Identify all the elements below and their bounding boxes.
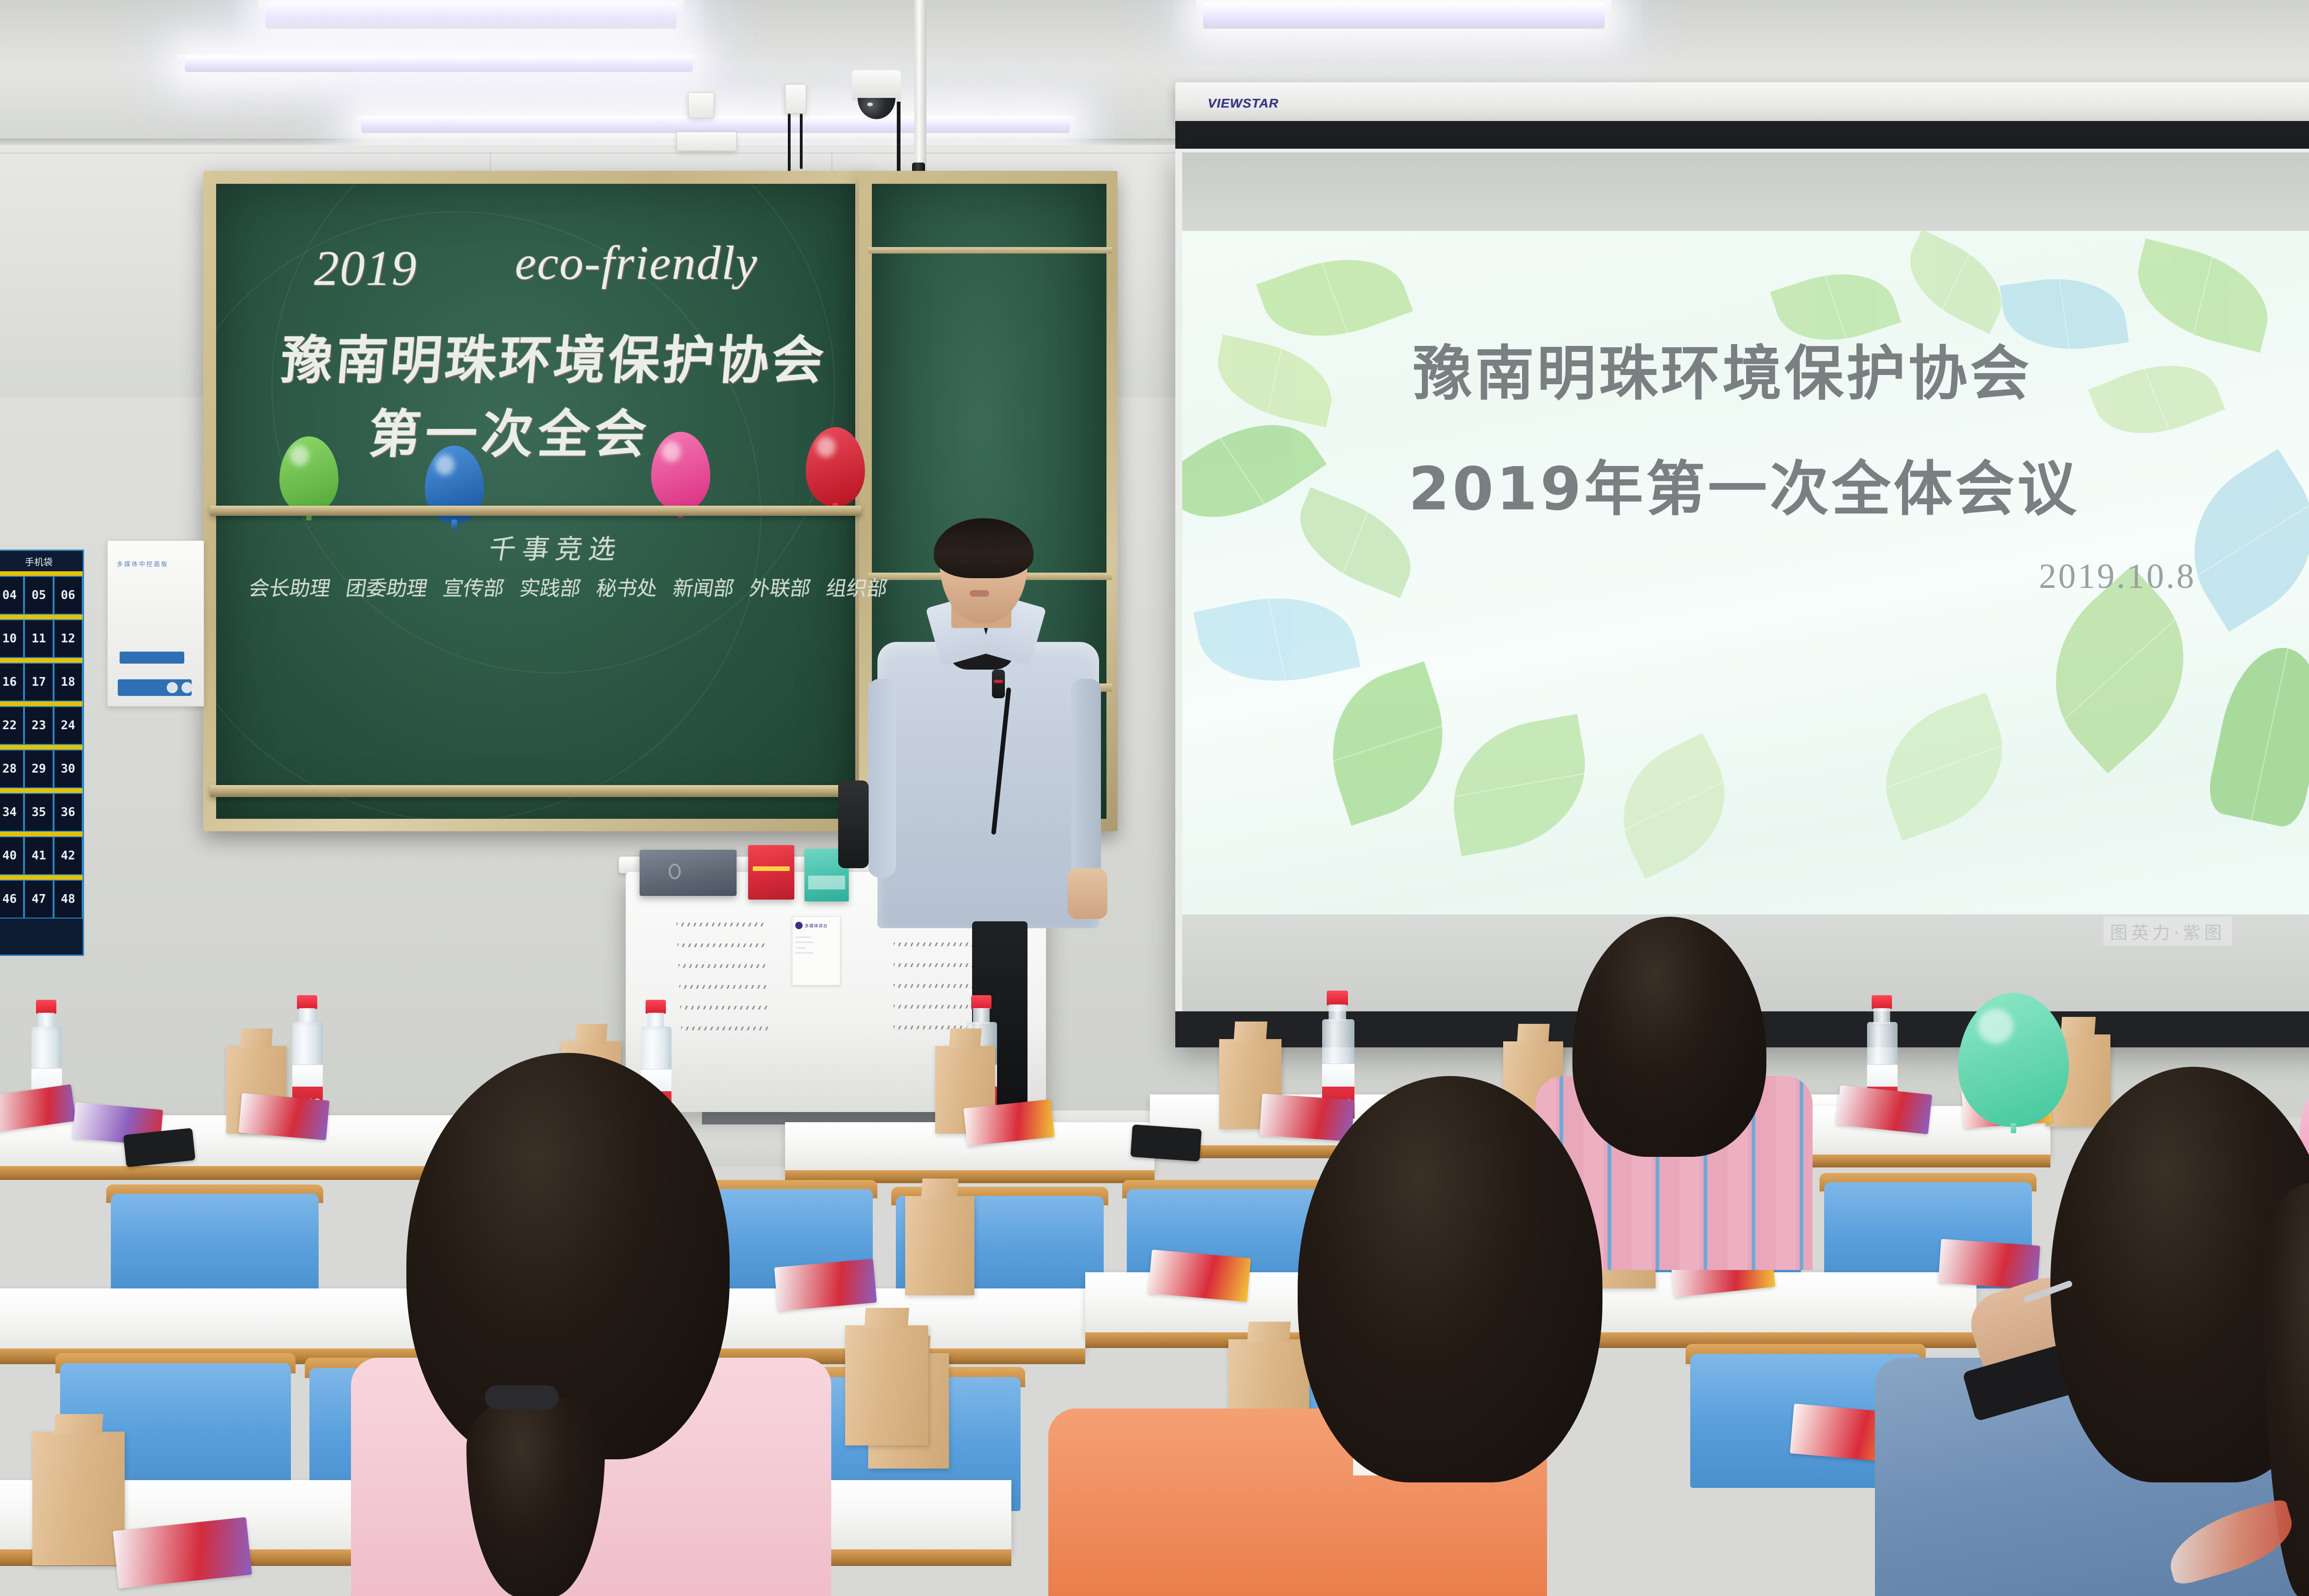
- pocket-cell-wrap: 41: [24, 832, 53, 875]
- projector-screen-case: [1175, 82, 2309, 125]
- pocket-cell-wrap: 06: [54, 571, 83, 615]
- pocket-slot-35[interactable]: 35: [24, 793, 53, 832]
- pocket-flap-2-1: [24, 658, 53, 663]
- dept-6: 外联部: [748, 572, 813, 601]
- cable-2: [800, 114, 803, 169]
- pocket-flap-1-1: [24, 615, 53, 619]
- pocket-flap-7-0: [0, 875, 24, 880]
- podium-vent-r-5: [894, 1005, 977, 1009]
- podium-plaque-lines: ▭▭▭▭▭▭▭▭▭▭▭▭▭▭▭▭▭▭▭▭▭▭▭▭: [795, 935, 837, 956]
- pocket-slot-16[interactable]: 16: [0, 663, 24, 701]
- pocket-cell-wrap: 42: [54, 832, 83, 875]
- phone-pocket-organizer: 手机袋 040506101112161718222324282930343536…: [0, 550, 84, 956]
- camera-cable: [897, 102, 901, 175]
- snack-packet-10: [1148, 1250, 1251, 1302]
- snack-packet-9: [774, 1259, 876, 1311]
- wall-switch-box: [688, 92, 714, 118]
- pocket-flap-2-2: [54, 658, 83, 663]
- speaker-handheld-device: [838, 780, 869, 868]
- ceiling-light-2: [1203, 3, 1605, 29]
- dept-7: 组织部: [824, 572, 890, 601]
- podium-vent-l-5: [680, 1006, 768, 1010]
- pocket-slot-23[interactable]: 23: [24, 706, 53, 745]
- pocket-cell-wrap: 10: [0, 615, 24, 658]
- bottle-7-label-white: [1867, 1064, 1898, 1087]
- dept-0: 会长助理: [247, 572, 333, 601]
- chalk-session: 第一次全会: [366, 393, 654, 467]
- red-package: [748, 845, 794, 900]
- pocket-cell-wrap: 47: [24, 875, 53, 919]
- snack-packet-4: [1259, 1094, 1354, 1142]
- dome-camera-housing: [852, 70, 901, 101]
- pocket-cell-wrap: 23: [24, 701, 53, 745]
- pocket-slot-34[interactable]: 34: [0, 793, 24, 832]
- pocket-cell-wrap: 35: [24, 788, 53, 832]
- pocket-cell-wrap: 17: [24, 658, 53, 701]
- pocket-cell-wrap: 40: [0, 832, 24, 875]
- pocket-flap-4-1: [24, 745, 53, 750]
- teal-box-left-band: [808, 876, 845, 889]
- pocket-cell-wrap: 05: [24, 571, 53, 615]
- pocket-slot-18[interactable]: 18: [54, 663, 83, 701]
- pocket-flap-6-2: [54, 832, 83, 836]
- projector-brand-label: VIEWSTAR: [1208, 96, 1279, 111]
- bottle-7-neck: [1874, 1008, 1890, 1024]
- bottle-5-label-white: [1322, 1064, 1354, 1087]
- dept-5: 新闻部: [671, 572, 737, 601]
- pocket-cell-wrap: 48: [54, 875, 83, 919]
- bottle-2-neck: [299, 1008, 315, 1024]
- gooseneck-mic-head: [992, 670, 1005, 698]
- bottle-3-cap: [646, 1000, 666, 1014]
- pocket-cell-wrap: 22: [0, 701, 24, 745]
- chalk-department-list: 会长助理 团委助理 宣传部 实践部 秘书处 新闻部 外联部 组织部: [249, 572, 850, 601]
- slide-title-line1: 豫南明珠环境保护协会: [1413, 326, 2032, 411]
- speaker-eye-right: [993, 560, 1005, 563]
- pocket-cell-wrap: 28: [0, 745, 24, 788]
- bottle-5-cap: [1327, 991, 1348, 1005]
- podium-vent-r-4: [894, 984, 977, 988]
- seat-row2-0[interactable]: [111, 1194, 319, 1300]
- control-panel-strip-1[interactable]: [120, 652, 184, 664]
- pocket-cell-wrap: 46: [0, 875, 24, 919]
- media-control-panel[interactable]: 多媒体中控面板: [107, 540, 204, 707]
- pocket-flap-7-2: [54, 875, 83, 880]
- pocket-flap-0-0: [0, 571, 24, 576]
- dept-2: 宣传部: [441, 572, 507, 601]
- podium-vent-l-4: [679, 985, 767, 989]
- chalk-eco-friendly: eco-friendly: [515, 236, 758, 290]
- laptop-logo-icon: [669, 864, 681, 879]
- pocket-cell-wrap: 04: [0, 571, 24, 615]
- pocket-slot-22[interactable]: 22: [0, 706, 24, 745]
- speaker-hand-right: [1068, 868, 1107, 919]
- podium-plaque-text: 多媒体讲台: [804, 924, 828, 929]
- pocket-slot-47[interactable]: 47: [24, 880, 53, 919]
- pocket-slot-06[interactable]: 06: [54, 576, 83, 615]
- student-front-left-hair: [406, 1053, 730, 1459]
- bottle-1-cap: [36, 1000, 56, 1014]
- blackboard-right-rail-top: [868, 247, 1112, 254]
- podium-vent-l-6: [681, 1027, 769, 1030]
- projector-screen-upper-band: [1182, 152, 2309, 231]
- laptop[interactable]: [640, 850, 737, 896]
- podium-vent-l-1: [677, 923, 764, 926]
- pocket-cell-wrap: 16: [0, 658, 24, 701]
- pocket-slot-42[interactable]: 42: [54, 836, 83, 875]
- pocket-flap-5-1: [24, 788, 53, 793]
- podium-plaque: 多媒体讲台 ▭▭▭▭▭▭▭▭▭▭▭▭▭▭▭▭▭▭▭▭▭▭▭▭: [792, 916, 840, 985]
- dept-4: 秘书处: [594, 572, 660, 601]
- control-panel-title: 多媒体中控面板: [117, 559, 204, 568]
- pocket-flap-6-0: [0, 832, 24, 836]
- chalk-tray-upper: [210, 506, 861, 516]
- bottle-1-neck: [38, 1013, 54, 1028]
- pocket-slot-12[interactable]: 12: [54, 619, 83, 658]
- bottle-2-label-white: [292, 1064, 323, 1087]
- pocket-grid: 0405061011121617182223242829303435364041…: [0, 571, 83, 919]
- pocket-flap-5-0: [0, 788, 24, 793]
- pocket-cell-wrap: 36: [54, 788, 83, 832]
- speaker-eye-left: [957, 560, 969, 563]
- presentation-slide: 豫南明珠环境保护协会 2019年第一次全体会议 2019.10.8: [1182, 231, 2309, 914]
- snack-packet-12: [1938, 1239, 2040, 1290]
- speaker-arm-left: [868, 679, 896, 877]
- pocket-slot-46[interactable]: 46: [0, 880, 24, 919]
- pocket-flap-4-2: [54, 745, 83, 750]
- slide-date: 2019.10.8: [2039, 556, 2196, 597]
- speaker-arm-right: [1071, 679, 1101, 887]
- pocket-cell-wrap: 34: [0, 788, 24, 832]
- pocket-slot-04[interactable]: 04: [0, 576, 24, 615]
- red-package-stripe: [753, 866, 790, 871]
- classroom-photo-scene: 2019 eco-friendly 豫南明珠环境保护协会 第一次全会 千事竞选 …: [0, 0, 2309, 1596]
- pocket-flap-1-0: [0, 615, 24, 619]
- student-front-center-hair: [1298, 1076, 1602, 1482]
- dept-1: 团委助理: [344, 572, 430, 601]
- mic-indicator-led: [994, 680, 1003, 683]
- control-panel-strip-2[interactable]: [118, 679, 192, 696]
- kraft-bag-8: [905, 1196, 974, 1295]
- pocket-slot-28[interactable]: 28: [0, 750, 24, 788]
- phone-on-desk-2[interactable]: [1130, 1124, 1202, 1161]
- pocket-flap-4-0: [0, 745, 24, 750]
- pocket-cell-wrap: 11: [24, 615, 53, 658]
- pocket-flap-6-1: [24, 832, 53, 836]
- pocket-cell-wrap: 12: [54, 615, 83, 658]
- pocket-cell-wrap: 18: [54, 658, 83, 701]
- hair-tie: [485, 1385, 559, 1409]
- chalk-lower-heading: 千事竞选: [486, 527, 625, 566]
- pocket-slot-29[interactable]: 29: [24, 750, 53, 788]
- pocket-slot-48[interactable]: 48: [54, 880, 83, 919]
- bottle-4-cap: [971, 995, 991, 1009]
- pocket-flap-7-1: [24, 875, 53, 880]
- pocket-cell-wrap: 29: [24, 745, 53, 788]
- kraft-bag-12: [32, 1432, 125, 1566]
- pocket-slot-24[interactable]: 24: [54, 706, 83, 745]
- pocket-flap-1-2: [54, 615, 83, 619]
- pocket-slot-10[interactable]: 10: [0, 619, 24, 658]
- podium-logo-icon: [795, 922, 803, 929]
- slide-title-line2: 2019年第一次全体会议: [1408, 441, 2079, 526]
- pocket-flap-3-1: [24, 701, 53, 706]
- bottle-4-neck: [973, 1008, 990, 1024]
- pocket-slot-11[interactable]: 11: [24, 619, 53, 658]
- pocket-flap-0-1: [24, 571, 53, 576]
- podium-vent-r-3: [894, 963, 977, 967]
- pocket-slot-30[interactable]: 30: [54, 750, 83, 788]
- pocket-slot-17[interactable]: 17: [24, 663, 53, 701]
- projector-screen-top-bar: [1175, 121, 2309, 150]
- camera-highlight: [867, 103, 873, 106]
- ceiling-light-1: [266, 3, 677, 29]
- dept-3: 实践部: [518, 572, 583, 601]
- ceiling-light-3: [185, 56, 693, 72]
- pocket-slot-41[interactable]: 41: [24, 836, 53, 875]
- cable-1: [788, 114, 791, 174]
- chalk-year: 2019: [314, 240, 417, 297]
- pocket-cell-wrap: 24: [54, 701, 83, 745]
- pocket-flap-5-2: [54, 788, 83, 793]
- slide-watermark: 图英力·紫图: [2103, 917, 2232, 946]
- podium-vent-l-2: [677, 943, 765, 947]
- wall-junction-box: [785, 84, 806, 114]
- bottle-2-cap: [297, 995, 317, 1009]
- bottle-7-cap: [1872, 995, 1892, 1009]
- bottle-5-neck: [1329, 1004, 1346, 1021]
- podium-vent-r-2: [894, 943, 977, 946]
- pocket-flap-3-0: [0, 701, 24, 706]
- bottle-3-neck: [647, 1013, 664, 1028]
- chalk-org-name: 豫南明珠环境保护协会: [278, 319, 830, 393]
- pocket-slot-05[interactable]: 05: [24, 576, 53, 615]
- control-knob-2[interactable]: [181, 682, 193, 693]
- speaker-mouth: [970, 590, 989, 597]
- pocket-cell-wrap: 30: [54, 745, 83, 788]
- podium-vent-l-3: [678, 964, 766, 968]
- snack-packet-2: [239, 1093, 330, 1140]
- chalk-tray-lower: [210, 785, 861, 797]
- pocket-flap-3-2: [54, 701, 83, 706]
- pocket-organizer-label: 手机袋: [0, 551, 83, 571]
- kraft-bag-13: [845, 1325, 928, 1445]
- pocket-flap-0-2: [54, 571, 83, 576]
- control-knob-1[interactable]: [167, 682, 178, 693]
- speaker-shirt: [877, 642, 1099, 928]
- pocket-slot-36[interactable]: 36: [54, 793, 83, 832]
- pocket-slot-40[interactable]: 40: [0, 836, 24, 875]
- pocket-flap-2-0: [0, 658, 24, 663]
